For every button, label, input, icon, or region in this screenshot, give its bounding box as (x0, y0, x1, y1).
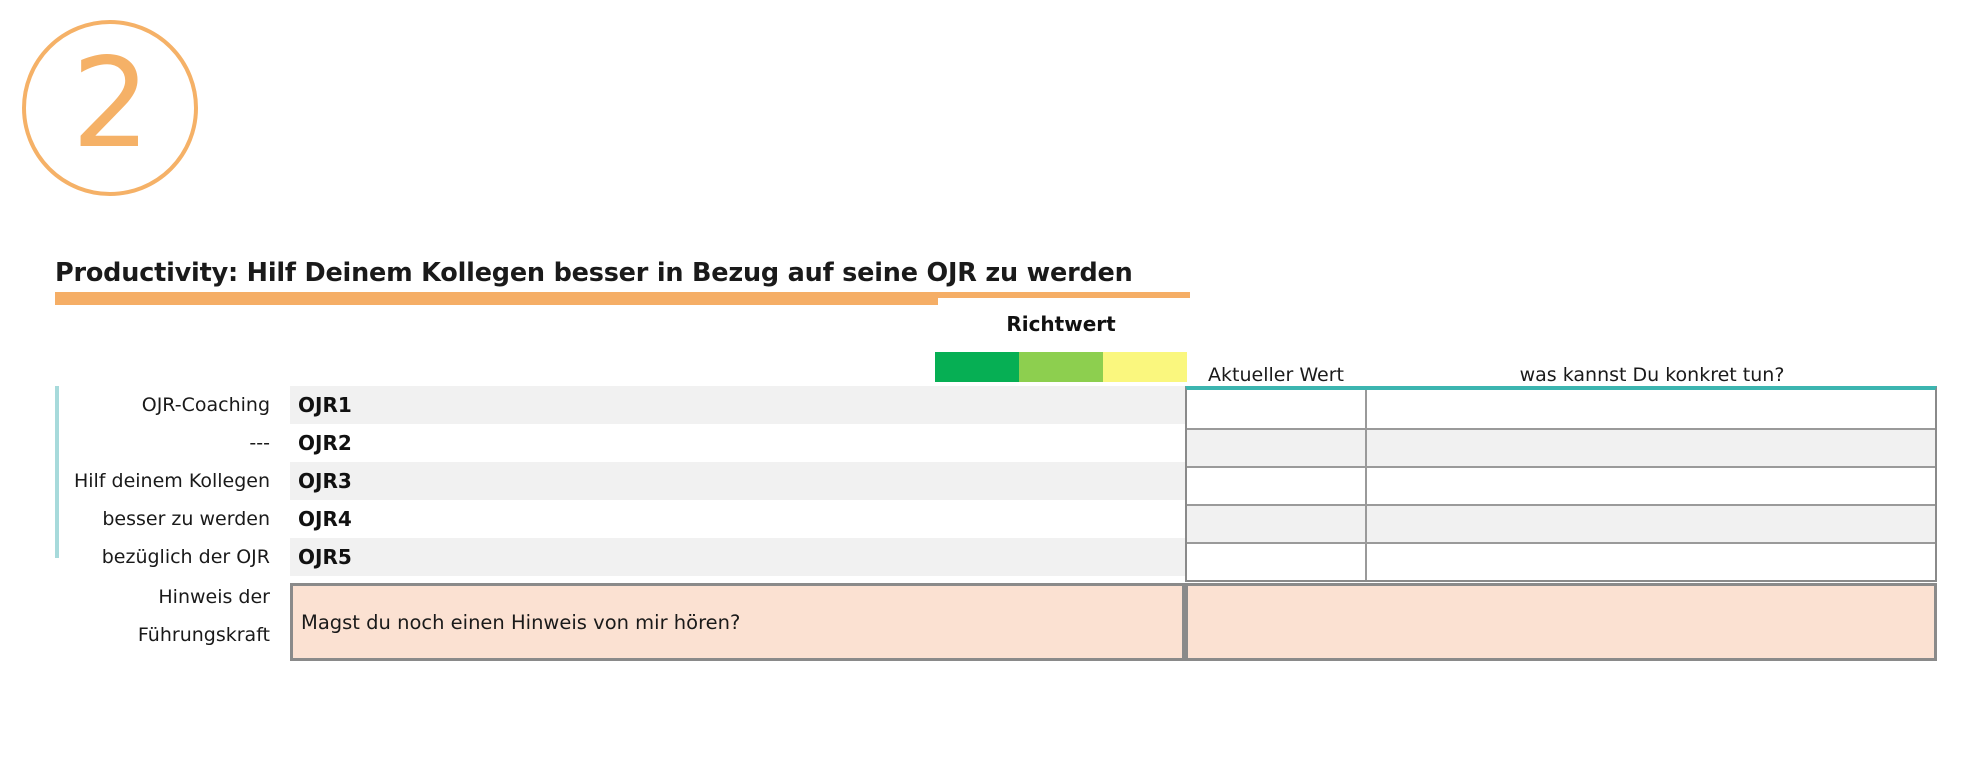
ojr-row-label-1: OJR1 (290, 386, 1185, 424)
left-label-column: OJR-Coaching --- Hilf deinem Kollegen be… (70, 386, 270, 576)
ojr-row-label-4: OJR4 (290, 500, 1185, 538)
cell-aktueller-wert-4[interactable] (1187, 506, 1367, 542)
ojr-row-label-3: OJR3 (290, 462, 1185, 500)
table-row (1187, 542, 1935, 580)
left-label-4: bezüglich der OJR (70, 538, 270, 576)
step-number-text: 2 (72, 42, 149, 166)
cell-aktueller-wert-2[interactable] (1187, 430, 1367, 466)
table-row (1187, 466, 1935, 504)
hinweis-label-line2: Führungskraft (70, 616, 270, 654)
richtwert-header-label: Richtwert (935, 312, 1187, 336)
richtwert-color-scale (935, 352, 1187, 382)
hinweis-answer-box[interactable] (1185, 583, 1937, 661)
answer-grid-table (1185, 386, 1937, 582)
page-title: Productivity: Hilf Deinem Kollegen besse… (55, 258, 1133, 288)
hinweis-prompt-text: Magst du noch einen Hinweis von mir höre… (301, 611, 740, 634)
left-label-1: --- (70, 424, 270, 462)
hinweis-label-column: Hinweis der Führungskraft (70, 578, 270, 654)
column-header-aktueller-wert: Aktueller Wert (1185, 364, 1367, 386)
column-header-konkret-tun: was kannst Du konkret tun? (1367, 364, 1937, 386)
cell-konkret-tun-5[interactable] (1367, 544, 1935, 580)
left-label-2: Hilf deinem Kollegen (70, 462, 270, 500)
hinweis-prompt-box: Magst du noch einen Hinweis von mir höre… (290, 583, 1185, 661)
cell-aktueller-wert-3[interactable] (1187, 468, 1367, 504)
ojr-row-label-2: OJR2 (290, 424, 1185, 462)
cell-aktueller-wert-1[interactable] (1187, 390, 1367, 428)
table-row (1187, 428, 1935, 466)
ojr-label-rows: OJR1 OJR2 OJR3 OJR4 OJR5 (290, 386, 1185, 576)
title-underline-thick (55, 296, 938, 305)
scale-segment-mittel (1019, 352, 1103, 382)
table-row (1187, 504, 1935, 542)
cell-konkret-tun-3[interactable] (1367, 468, 1935, 504)
cell-aktueller-wert-5[interactable] (1187, 544, 1367, 580)
step-number-badge: 2 (22, 20, 198, 196)
cell-konkret-tun-2[interactable] (1367, 430, 1935, 466)
left-accent-line (55, 386, 59, 558)
table-row (1187, 390, 1935, 428)
left-label-0: OJR-Coaching (70, 386, 270, 424)
left-label-3: besser zu werden (70, 500, 270, 538)
cell-konkret-tun-4[interactable] (1367, 506, 1935, 542)
ojr-row-label-5: OJR5 (290, 538, 1185, 576)
scale-segment-gut (935, 352, 1019, 382)
scale-segment-schwach (1103, 352, 1187, 382)
hinweis-label-line1: Hinweis der (70, 578, 270, 616)
cell-konkret-tun-1[interactable] (1367, 390, 1935, 428)
